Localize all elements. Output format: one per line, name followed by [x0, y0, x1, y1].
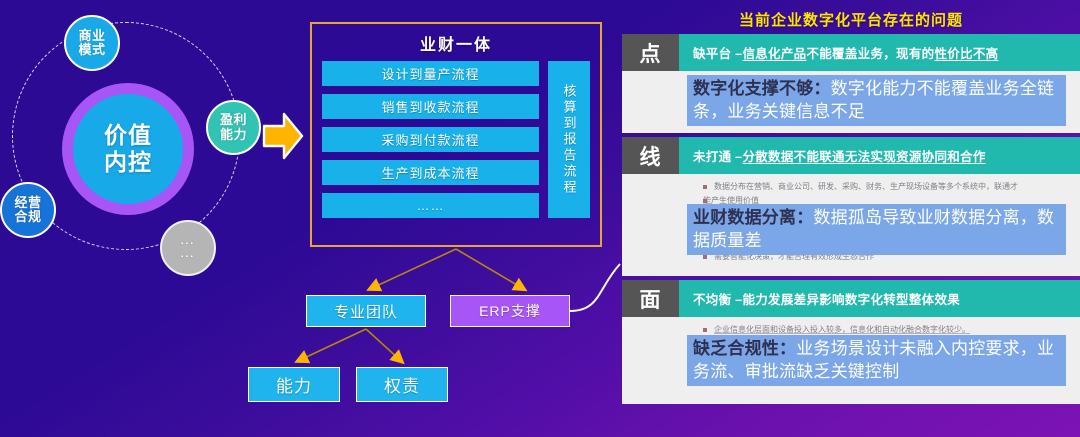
bubble-profitability-line2: 能力: [220, 127, 247, 142]
core-label-line2: 内控: [104, 149, 152, 176]
problems-panel: 当前企业数字化平台存在的问题 点 缺平台 – 信息化产品不能覆盖业务，现有的性价…: [622, 0, 1080, 437]
center-box-title: 业财一体: [312, 31, 600, 55]
core-value-control: 价值 内控: [73, 94, 183, 204]
problems-panel-title: 当前企业数字化平台存在的问题: [622, 0, 1080, 30]
core-label-line1: 价值: [104, 122, 152, 149]
faint-bullet: 数据分布在营销、商业公司、研发、采购、财务、生产现场设备等多个系统中，联通才: [703, 180, 1072, 194]
problem-block-dian: 点 缺平台 – 信息化产品不能覆盖业务，现有的性价比不高 营销：获客贵、粘性差、…: [622, 34, 1080, 133]
bubble-profitability[interactable]: 盈利 能力: [206, 100, 261, 155]
headline-underlined-part: 性价比不高: [934, 43, 998, 62]
overlay-bold-mian: 缺乏合规性：: [693, 339, 796, 358]
headline-underlined-part: 无法实现资源协同和合作: [845, 146, 986, 165]
body-content-xian: 数据分布在营销、商业公司、研发、采购、财务、生产现场设备等多个系统中，联通才 能…: [679, 174, 1080, 276]
bubble-more-line2: ...: [181, 248, 195, 261]
bubble-business-model[interactable]: 商业 模式: [64, 15, 120, 71]
flow-box-ability[interactable]: 能力: [248, 367, 340, 402]
slide-canvas: 价值 内控 商业 模式 盈利 能力 经营 合规 ... ...: [0, 0, 1080, 437]
body-gutter: [622, 71, 679, 133]
problem-block-xian: 线 未打通 – 分散数据不能联通 无法实现资源协同和合作 数据分布在营销、商业公…: [622, 137, 1080, 276]
bubble-more-line1: ...: [181, 235, 195, 248]
process-item[interactable]: 销售到收款流程: [322, 94, 539, 119]
bubble-compliance[interactable]: 经营 合规: [0, 182, 56, 238]
process-item[interactable]: 生产到成本流程: [322, 160, 539, 185]
core-outer-ring: 价值 内控: [62, 83, 194, 215]
overlay-bold-xian: 业财数据分离：: [693, 208, 813, 227]
accounting-to-report-process[interactable]: 核算到报告流程: [548, 61, 590, 218]
body-content-mian: 企业信息化层面和设备投入投入较多，信息化和自动化融合数字化较少。 企业数字化能力…: [679, 317, 1080, 404]
flow-box-professional-team[interactable]: 专业团队: [306, 295, 426, 327]
problem-block-mian: 面 不均衡 – 能力发展差异影响数字化转型整体效果 企业信息化层面和设备投入投入…: [622, 280, 1080, 404]
process-list: 设计到量产流程 销售到收款流程 采购到付款流程 生产到成本流程 ……: [322, 61, 539, 218]
headline-part: 能力发展差异影响数字化转型整体效果: [742, 289, 960, 308]
problem-header-dian: 点 缺平台 – 信息化产品不能覆盖业务，现有的性价比不高: [622, 34, 1080, 71]
integrated-business-finance-box: 业财一体 设计到量产流程 销售到收款流程 采购到付款流程 生产到成本流程 …… …: [310, 22, 602, 247]
process-item[interactable]: 设计到量产流程: [322, 61, 539, 86]
problem-body-dian: 营销：获客贵、粘性差、转化低、复购少 研发：研发投入不足、创新能力不足、人才能力…: [622, 71, 1080, 133]
bubble-business-model-line1: 商业: [78, 28, 105, 43]
body-content-dian: 营销：获客贵、粘性差、转化低、复购少 研发：研发投入不足、创新能力不足、人才能力…: [679, 71, 1080, 133]
process-item[interactable]: ……: [322, 193, 539, 218]
problem-tag-dian: 点: [622, 34, 679, 71]
bubble-compliance-line2: 合规: [14, 209, 41, 224]
problem-headline-dian: 缺平台 – 信息化产品不能覆盖业务，现有的性价比不高: [679, 34, 1080, 71]
headline-part: 缺平台 –: [693, 43, 742, 62]
bubble-more[interactable]: ... ...: [160, 220, 216, 276]
flow-box-duty[interactable]: 权责: [356, 367, 448, 402]
overlay-callout-mian: 缺乏合规性：业务场景设计未融入内控要求，业务流、审批流缺乏关键控制: [687, 335, 1066, 386]
bubble-profitability-line1: 盈利: [220, 112, 247, 127]
headline-part: 未打通 –: [693, 146, 742, 165]
problem-header-mian: 面 不均衡 – 能力发展差异影响数字化转型整体效果: [622, 280, 1080, 317]
body-gutter: [622, 317, 679, 404]
problem-body-mian: 企业信息化层面和设备投入投入较多，信息化和自动化融合数字化较少。 企业数字化能力…: [622, 317, 1080, 404]
problem-headline-xian: 未打通 – 分散数据不能联通 无法实现资源协同和合作: [679, 137, 1080, 174]
body-gutter: [622, 174, 679, 276]
overlay-bold-dian: 数字化支撑不够：: [693, 79, 831, 98]
right-arrow-icon: [262, 110, 304, 162]
flow-box-erp-support[interactable]: ERP支撑: [450, 295, 570, 327]
problem-headline-mian: 不均衡 – 能力发展差异影响数字化转型整体效果: [679, 280, 1080, 317]
bubble-business-model-line2: 模式: [78, 42, 105, 57]
overlay-callout-xian: 业财数据分离：数据孤岛导致业财数据分离，数据质量差: [687, 204, 1066, 255]
bubble-compliance-line1: 经营: [14, 195, 41, 210]
process-item[interactable]: 采购到付款流程: [322, 127, 539, 152]
headline-underlined-part: 分散数据不能联通: [742, 146, 844, 165]
problem-tag-mian: 面: [622, 280, 679, 317]
overlay-callout-dian: 数字化支撑不够：数字化能力不能覆盖业务全链条，业务关键信息不足: [687, 75, 1066, 126]
headline-underlined-part: 信息化产品: [742, 43, 806, 62]
headline-part: 不能覆盖业务，现有的: [806, 43, 934, 62]
headline-part: 不均衡 –: [693, 289, 742, 308]
value-control-orbit-diagram: 价值 内控 商业 模式 盈利 能力 经营 合规 ... ...: [0, 0, 300, 300]
problem-tag-xian: 线: [622, 137, 679, 174]
problem-header-xian: 线 未打通 – 分散数据不能联通 无法实现资源协同和合作: [622, 137, 1080, 174]
problem-body-xian: 数据分布在营销、商业公司、研发、采购、财务、生产现场设备等多个系统中，联通才 能…: [622, 174, 1080, 276]
